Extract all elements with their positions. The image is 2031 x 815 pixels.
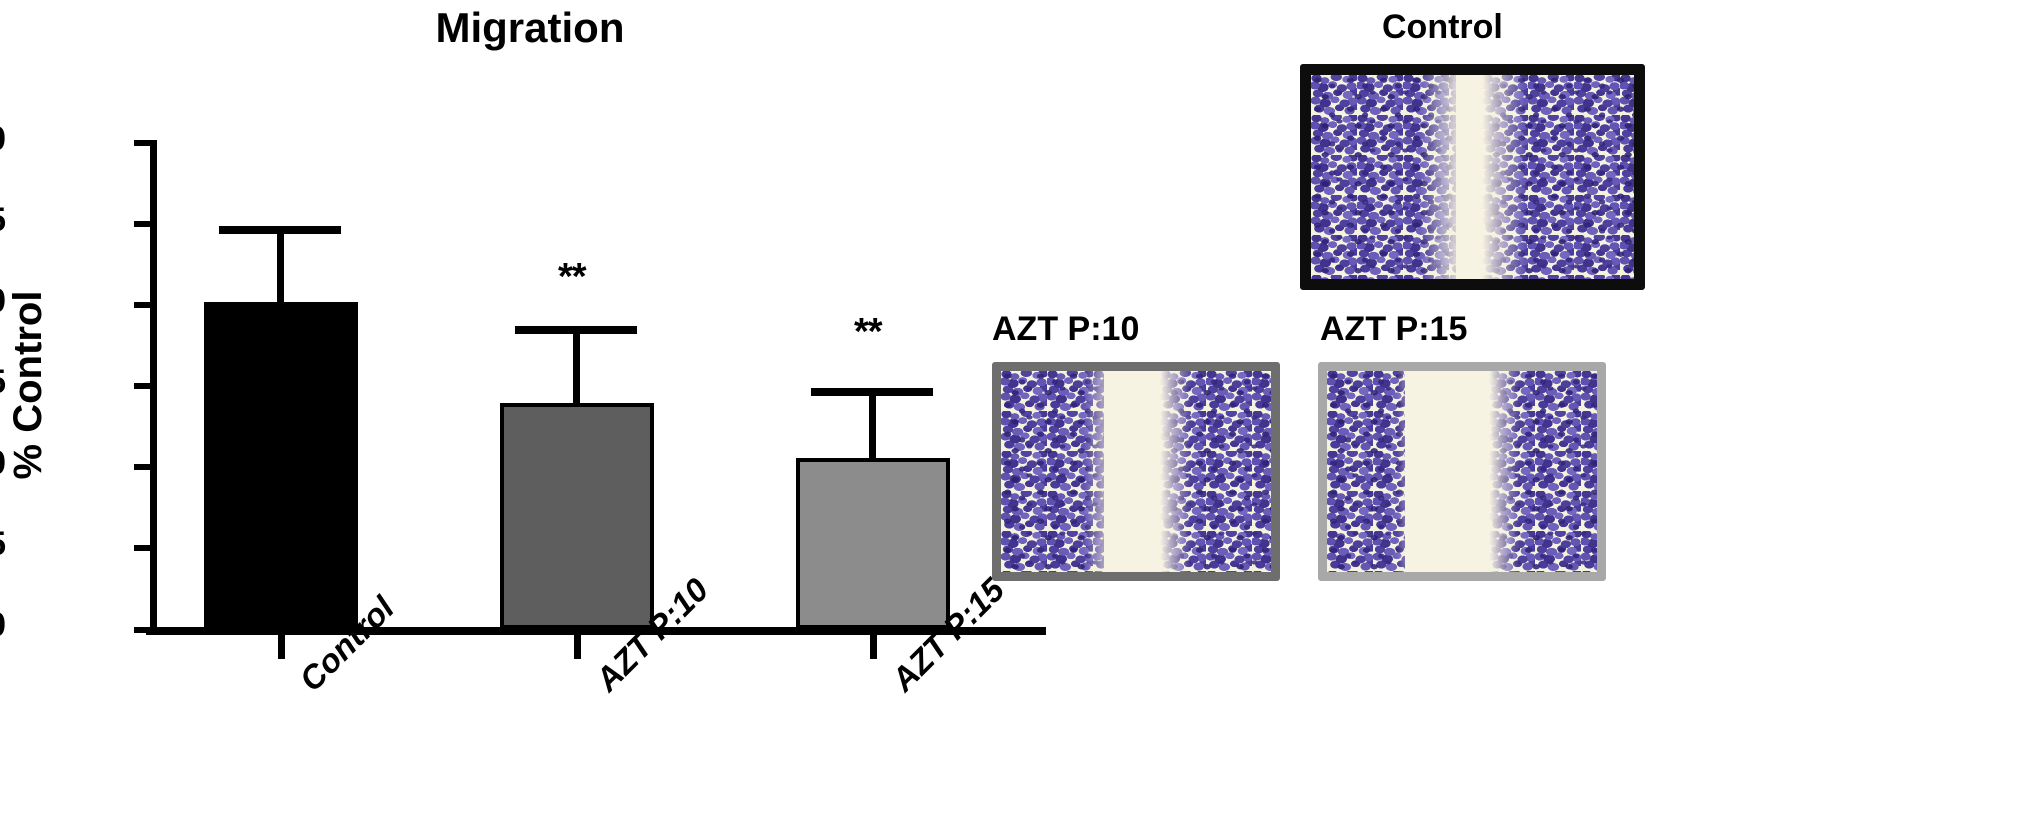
error-bar-stem-azt-p15 [869,390,876,462]
chart-title: Migration [0,4,1060,52]
x-tick-azt-p10 [574,635,581,659]
y-tick-label-150: 150 [0,122,6,156]
cell-field-right [1489,371,1597,572]
y-tick-125 [134,221,156,227]
error-bar-cap-azt-p15 [811,388,933,396]
cell-field-right [1160,371,1271,572]
y-tick-label-75: 75 [0,365,6,399]
error-bar-stem-azt-p10 [573,328,580,407]
wound-gap-azt-p15 [1405,371,1502,572]
y-tick-50 [134,464,156,470]
y-axis-label-wrapper: % Control [0,0,48,150]
y-tick-label-100: 100 [0,284,6,318]
micrograph-azt-p15[interactable] [1318,362,1606,581]
significance-mark-azt-p15: ** [854,313,882,351]
cell-field-right [1482,75,1634,279]
error-bar-stem-control [277,228,284,306]
bar-azt-p10[interactable] [500,403,654,629]
y-tick-label-0: 0 [0,608,6,642]
bar-control[interactable] [204,302,358,628]
x-axis-line [146,627,1046,635]
migration-chart-panel: Migration % Control 150 125 100 75 50 25… [0,0,1050,815]
y-tick-150 [134,140,156,146]
micrographs-panel: Control AZT P:10 AZT P:15 [1050,0,2031,815]
error-bar-cap-azt-p10 [515,326,637,334]
y-axis-label: % Control [6,150,51,620]
micrograph-control-field [1311,75,1634,279]
micrograph-azt-p15-field [1327,371,1597,572]
significance-mark-azt-p10: ** [558,258,586,296]
x-tick-azt-p15 [870,635,877,659]
cell-field-left [1001,371,1117,572]
y-tick-label-25: 25 [0,527,6,561]
cell-field-left [1311,75,1463,279]
error-bar-cap-control [219,226,341,234]
micrograph-azt-p10-field [1001,371,1271,572]
y-tick-label-125: 125 [0,203,6,237]
y-tick-label-50: 50 [0,446,6,480]
y-tick-25 [134,545,156,551]
micrograph-caption-azt-p10: AZT P:10 [992,310,1139,349]
micrograph-caption-control: Control [1382,8,1503,47]
bar-azt-p15[interactable] [796,458,950,629]
micrograph-azt-p10[interactable] [992,362,1280,581]
y-tick-100 [134,302,156,308]
x-tick-control [278,635,285,659]
y-tick-75 [134,383,156,389]
micrograph-caption-azt-p15: AZT P:15 [1320,310,1467,349]
micrograph-control[interactable] [1300,64,1645,290]
